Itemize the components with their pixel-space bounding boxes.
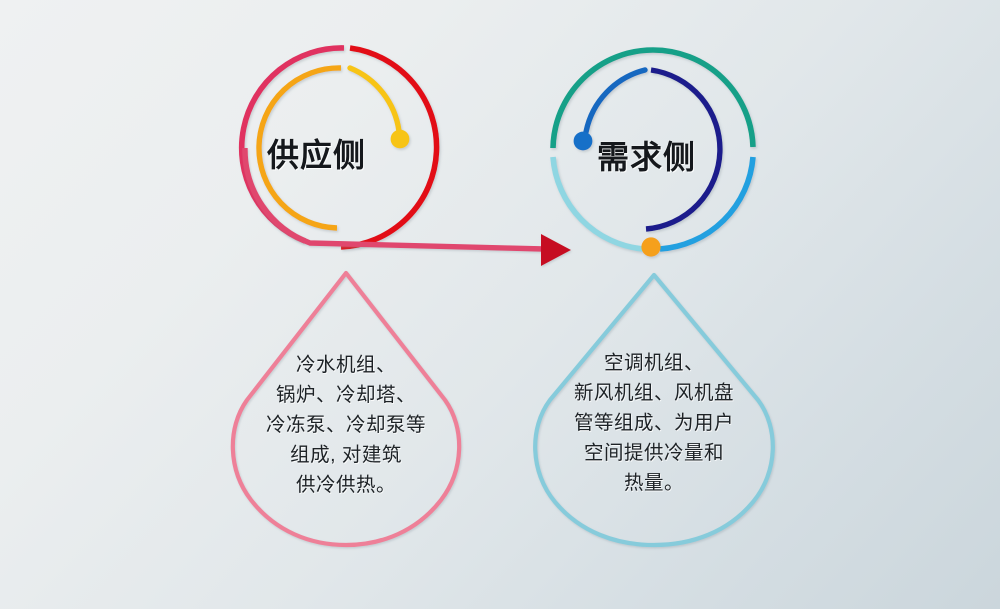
demand-description-line: 新风机组、风机盘 bbox=[548, 378, 760, 408]
demand-description-line: 管等组成、为用户 bbox=[548, 408, 760, 438]
supply-description-line: 冷水机组、 bbox=[248, 350, 444, 380]
supply-description-line: 供冷供热。 bbox=[248, 470, 444, 500]
demand-ring-endpoint-dot-orange bbox=[641, 237, 660, 256]
supply-ring-endpoint-dot bbox=[391, 130, 410, 149]
supply-description-line: 组成, 对建筑 bbox=[248, 440, 444, 470]
demand-ring-endpoint-dot-blue bbox=[574, 132, 593, 151]
demand-description: 空调机组、 新风机组、风机盘 管等组成、为用户 空间提供冷量和 热量。 bbox=[548, 348, 760, 498]
supply-description-line: 冷冻泵、冷却泵等 bbox=[248, 410, 444, 440]
diagram-graphics bbox=[0, 0, 1000, 609]
supply-ring-title: 供应侧 bbox=[267, 130, 366, 176]
flow-arrow-head bbox=[541, 234, 571, 266]
demand-description-line: 空调机组、 bbox=[548, 348, 760, 378]
supply-description: 冷水机组、 锅炉、冷却塔、 冷冻泵、冷却泵等 组成, 对建筑 供冷供热。 bbox=[248, 350, 444, 500]
supply-inner-ring-gold-arc-right bbox=[350, 68, 399, 131]
demand-inner-ring-blue-arc bbox=[586, 70, 645, 132]
diagram-canvas: 供应侧 需求侧 冷水机组、 锅炉、冷却塔、 冷冻泵、冷却泵等 组成, 对建筑 供… bbox=[0, 0, 1000, 609]
demand-ring-title: 需求侧 bbox=[597, 132, 696, 178]
demand-description-line: 空间提供冷量和 bbox=[548, 438, 760, 468]
supply-description-line: 锅炉、冷却塔、 bbox=[248, 380, 444, 410]
demand-description-line: 热量。 bbox=[548, 468, 760, 498]
